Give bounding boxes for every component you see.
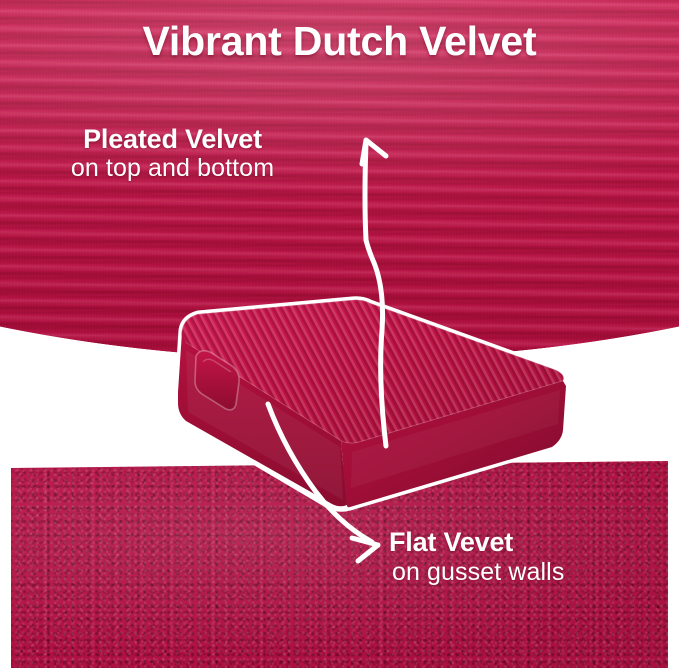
product-illustration [0,0,679,668]
callout-pleated-subtitle: on top and bottom [0,154,345,183]
product-infographic: Vibrant Dutch Velvet Pleated Velvet on t… [0,0,679,668]
callout-flat-title: Flat Vevet [389,527,513,558]
callout-pleated-title: Pleated Velvet [0,124,345,155]
callout-flat-subtitle: on gusset walls [392,558,564,587]
page-title: Vibrant Dutch Velvet [0,18,679,65]
